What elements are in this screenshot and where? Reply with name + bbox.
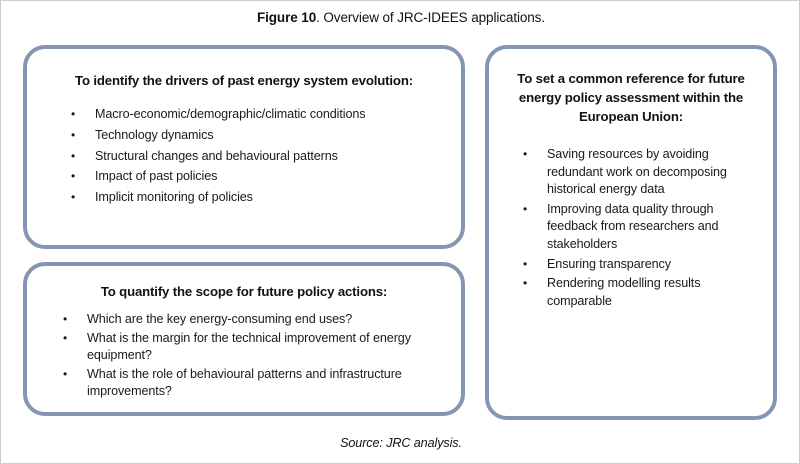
list-item-label: Macro-economic/demographic/climatic cond…: [71, 106, 461, 124]
list-item: • Impact of past policies: [71, 168, 461, 186]
figure-caption-label: Figure 10: [257, 10, 316, 25]
box-past-drivers-list: • Macro-economic/demographic/climatic co…: [71, 106, 461, 207]
box-past-drivers: To identify the drivers of past energy s…: [23, 45, 465, 249]
list-item-label: What is the margin for the technical imp…: [63, 330, 439, 365]
source-note: Source: JRC analysis.: [1, 436, 800, 450]
list-item-label: Ensuring transparency: [523, 256, 755, 274]
list-item: • Technology dynamics: [71, 127, 461, 145]
figure-frame: Figure 10. Overview of JRC-IDEES applica…: [0, 0, 800, 464]
list-item-label: Saving resources by avoiding redundant w…: [523, 146, 755, 199]
figure-caption: Figure 10. Overview of JRC-IDEES applica…: [1, 9, 800, 26]
bullet-icon: •: [63, 366, 87, 384]
box-future-scope-heading: To quantify the scope for future policy …: [47, 282, 441, 301]
list-item-label: What is the role of behavioural patterns…: [63, 366, 439, 401]
list-item: • Saving resources by avoiding redundant…: [523, 146, 755, 199]
list-item: • Which are the key energy-consuming end…: [63, 311, 439, 329]
bullet-icon: •: [71, 148, 95, 166]
bullet-icon: •: [523, 256, 547, 274]
figure-caption-text: . Overview of JRC-IDEES applications.: [316, 10, 545, 25]
list-item: • Implicit monitoring of policies: [71, 189, 461, 207]
list-item: • What is the margin for the technical i…: [63, 330, 439, 365]
bullet-icon: •: [71, 189, 95, 207]
list-item: • Improving data quality through feedbac…: [523, 201, 755, 254]
bullet-icon: •: [71, 168, 95, 186]
list-item: • Structural changes and behavioural pat…: [71, 148, 461, 166]
box-past-drivers-heading: To identify the drivers of past energy s…: [61, 71, 427, 90]
list-item-label: Structural changes and behavioural patte…: [71, 148, 461, 166]
bullet-icon: •: [71, 106, 95, 124]
list-item-label: Which are the key energy-consuming end u…: [63, 311, 439, 329]
bullet-icon: •: [523, 146, 547, 164]
box-common-reference-heading: To set a common reference for future ene…: [511, 69, 751, 126]
bullet-icon: •: [63, 311, 87, 329]
bullet-icon: •: [523, 201, 547, 219]
list-item: • What is the role of behavioural patter…: [63, 366, 439, 401]
box-common-reference-list: • Saving resources by avoiding redundant…: [523, 146, 755, 310]
box-future-scope: To quantify the scope for future policy …: [23, 262, 465, 416]
list-item-label: Impact of past policies: [71, 168, 461, 186]
list-item: • Rendering modelling results comparable: [523, 275, 755, 310]
bullet-icon: •: [71, 127, 95, 145]
list-item: • Ensuring transparency: [523, 256, 755, 274]
bullet-icon: •: [523, 275, 547, 293]
list-item-label: Rendering modelling results comparable: [523, 275, 755, 310]
list-item-label: Technology dynamics: [71, 127, 461, 145]
list-item-label: Improving data quality through feedback …: [523, 201, 755, 254]
list-item-label: Implicit monitoring of policies: [71, 189, 461, 207]
box-common-reference: To set a common reference for future ene…: [485, 45, 777, 420]
list-item: • Macro-economic/demographic/climatic co…: [71, 106, 461, 124]
bullet-icon: •: [63, 330, 87, 348]
box-future-scope-list: • Which are the key energy-consuming end…: [63, 311, 439, 401]
